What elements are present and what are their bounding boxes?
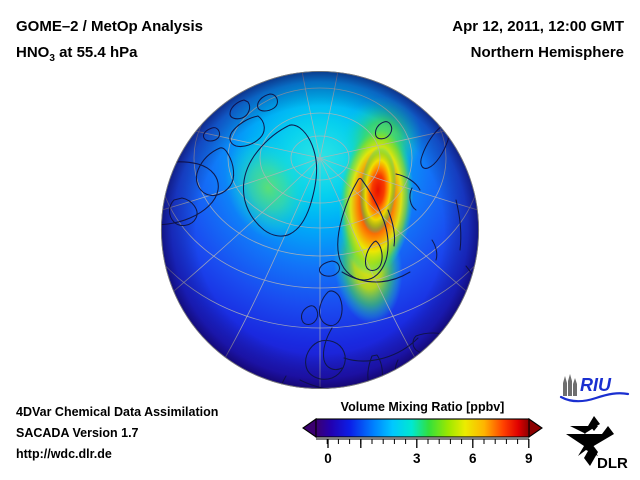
colorbar-cap-high bbox=[529, 419, 542, 437]
globe-svg bbox=[160, 70, 480, 390]
analysis-title: GOME–2 / MetOp Analysis bbox=[16, 14, 203, 40]
dlr-logo-svg: DLR bbox=[564, 414, 632, 472]
colorbar-title: Volume Mixing Ratio [ppbv] bbox=[300, 400, 545, 414]
riu-logo: RIU bbox=[558, 372, 630, 409]
species-pressure-label: HNO3 at 55.4 hPa bbox=[16, 40, 203, 72]
header-right-block: Apr 12, 2011, 12:00 GMT Northern Hemisph… bbox=[452, 14, 624, 66]
colorbar-svg: 0 3 6 9 bbox=[300, 417, 545, 473]
dlr-wordmark: DLR bbox=[597, 455, 628, 472]
colorbar-tick-0: 0 bbox=[324, 451, 332, 466]
timestamp-label: Apr 12, 2011, 12:00 GMT bbox=[452, 14, 624, 40]
coast-caspian bbox=[460, 332, 469, 358]
globe-map bbox=[160, 70, 480, 390]
riu-wordmark: RIU bbox=[580, 375, 612, 395]
method-label: 4DVar Chemical Data Assimilation bbox=[16, 402, 218, 423]
colorbar-minor-ticks bbox=[327, 439, 517, 444]
colorbar-tick-3: 3 bbox=[413, 451, 421, 466]
website-url[interactable]: http://wdc.dlr.de bbox=[16, 444, 218, 465]
hemisphere-label: Northern Hemisphere bbox=[452, 40, 624, 66]
coast-red-sea bbox=[426, 376, 442, 390]
riu-logo-svg: RIU bbox=[558, 372, 630, 404]
footer-left-block: 4DVar Chemical Data Assimilation SACADA … bbox=[16, 402, 218, 465]
coast-arabia bbox=[418, 360, 460, 390]
colorbar-tick-6: 6 bbox=[469, 451, 477, 466]
colorbar-gradient bbox=[316, 419, 529, 437]
colorbar-tick-9: 9 bbox=[525, 451, 533, 466]
version-label: SACADA Version 1.7 bbox=[16, 423, 218, 444]
colorbar-tick-labels: 0 3 6 9 bbox=[324, 451, 532, 466]
pressure-level: at 55.4 hPa bbox=[55, 44, 138, 61]
colorbar-block: Volume Mixing Ratio [ppbv] bbox=[300, 400, 545, 473]
header-left-block: GOME–2 / MetOp Analysis HNO3 at 55.4 hPa bbox=[16, 14, 203, 72]
riu-tower-icon bbox=[563, 374, 577, 396]
dlr-logo: DLR bbox=[564, 414, 632, 477]
species-formula: HNO bbox=[16, 44, 49, 61]
colorbar-cap-low bbox=[303, 419, 316, 437]
limb-shading bbox=[161, 71, 479, 389]
